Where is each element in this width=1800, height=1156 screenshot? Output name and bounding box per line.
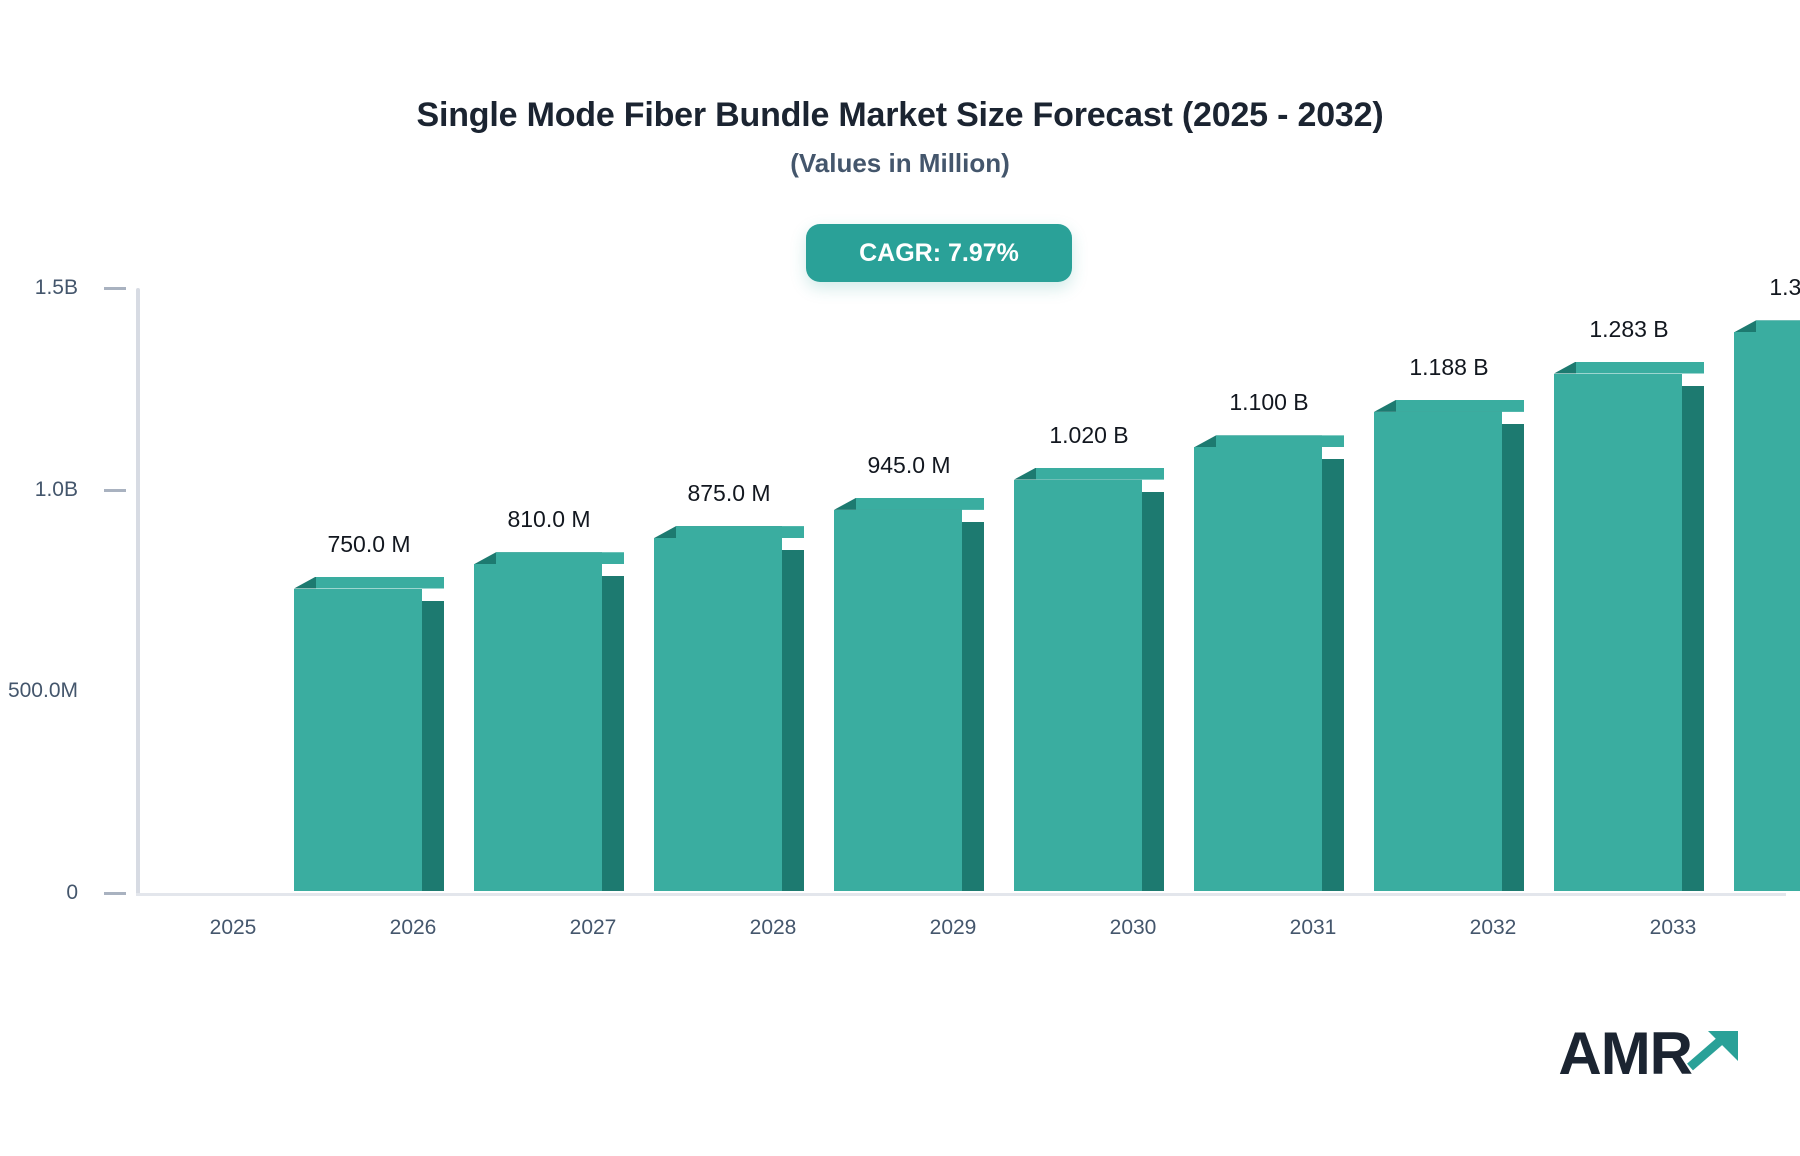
amr-logo: AMR <box>1558 1024 1742 1084</box>
bar-2030: 1.100 B <box>1194 447 1322 891</box>
bar-2026: 810.0 M <box>474 564 602 891</box>
bar-side-face <box>1502 424 1524 891</box>
chart-canvas: Single Mode Fiber Bundle Market Size For… <box>0 0 1800 1156</box>
bar-value-label: 1.188 B <box>1409 354 1488 381</box>
y-axis-tick-mark <box>104 489 126 492</box>
bar-face <box>294 589 422 892</box>
bar-top-highlight <box>316 577 444 589</box>
bar-2031: 1.188 B <box>1374 412 1502 891</box>
y-axis-tick-label: 500.0M <box>8 679 78 703</box>
bar-side-face <box>1142 492 1164 891</box>
x-axis-tick-label: 2027 <box>533 916 653 940</box>
cagr-badge-label: CAGR: 7.97% <box>859 239 1019 268</box>
bar-value-label: 750.0 M <box>327 531 410 558</box>
bar-top-highlight <box>1216 435 1344 447</box>
bar-face <box>834 510 962 891</box>
x-axis-tick-label: 2029 <box>893 916 1013 940</box>
bar-top-highlight <box>856 498 984 510</box>
chart-subtitle: (Values in Million) <box>0 148 1800 179</box>
bar-face <box>1014 480 1142 891</box>
page-title: Single Mode Fiber Bundle Market Size For… <box>0 96 1800 135</box>
bar-face <box>1194 447 1322 891</box>
bar-top-highlight <box>1576 362 1704 374</box>
bar-top-highlight <box>1756 320 1800 332</box>
bar-face <box>1554 374 1682 891</box>
y-axis-tick-label: 0 <box>66 881 78 905</box>
plot-area: 750.0 M810.0 M875.0 M945.0 M1.020 B1.100… <box>136 286 1786 899</box>
bar-side-face <box>1322 459 1344 891</box>
bar-value-label: 1.385 B <box>1769 274 1800 301</box>
bar-side-face <box>1682 386 1704 891</box>
bar-2027: 875.0 M <box>654 538 782 891</box>
amr-logo-text: AMR <box>1558 1024 1692 1084</box>
x-axis-tick-label: 2028 <box>713 916 833 940</box>
bar-side-face <box>962 522 984 891</box>
bar-top-highlight <box>676 526 804 538</box>
x-axis-tick-label: 2031 <box>1253 916 1373 940</box>
bar-top-highlight <box>496 552 624 564</box>
bar-2025: 750.0 M <box>294 589 422 892</box>
cagr-badge: CAGR: 7.97% <box>806 224 1072 282</box>
bar-2032: 1.283 B <box>1554 374 1682 891</box>
x-axis-tick-label: 2026 <box>353 916 473 940</box>
bar-face <box>1374 412 1502 891</box>
bar-side-face <box>422 601 444 892</box>
bar-value-label: 810.0 M <box>507 506 590 533</box>
y-axis-tick-mark <box>104 287 126 290</box>
bar-value-label: 945.0 M <box>867 452 950 479</box>
bar-face <box>1734 332 1800 891</box>
bar-value-label: 1.020 B <box>1049 422 1128 449</box>
x-axis-tick-label: 2030 <box>1073 916 1193 940</box>
y-axis-tick-label: 1.5B <box>35 276 78 300</box>
x-axis-tick-label: 2025 <box>173 916 293 940</box>
bar-side-face <box>602 576 624 891</box>
y-axis-tick-mark <box>104 892 126 895</box>
bar-2033: 1.385 B <box>1734 332 1800 891</box>
bar-2028: 945.0 M <box>834 510 962 891</box>
bar-face <box>474 564 602 891</box>
bar-top-highlight <box>1036 468 1164 480</box>
bar-face <box>654 538 782 891</box>
x-axis-tick-label: 2033 <box>1613 916 1733 940</box>
bar-2029: 1.020 B <box>1014 480 1142 891</box>
arrow-up-right-icon <box>1686 1027 1742 1078</box>
y-axis-tick-label: 1.0B <box>35 478 78 502</box>
x-axis-tick-label: 2032 <box>1433 916 1553 940</box>
bar-value-label: 1.100 B <box>1229 389 1308 416</box>
bar-value-label: 1.283 B <box>1589 316 1668 343</box>
bar-side-face <box>782 550 804 891</box>
bar-top-highlight <box>1396 400 1524 412</box>
bar-value-label: 875.0 M <box>687 480 770 507</box>
